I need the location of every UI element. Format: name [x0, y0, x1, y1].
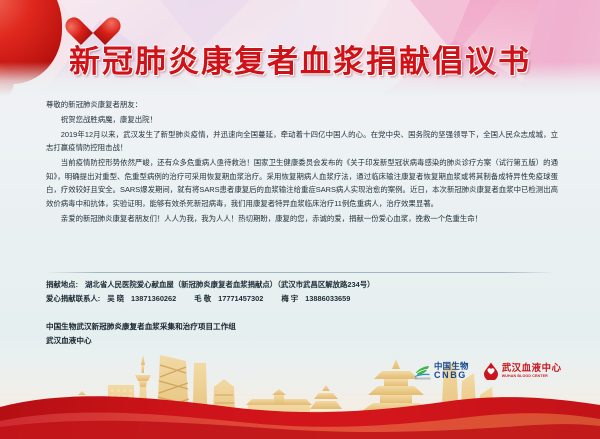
cnbg-logo-cn: 中国生物 [434, 362, 469, 370]
contact-phone-1: 13871360262 [131, 294, 176, 303]
contact-name-2: 毛 敬 [194, 294, 211, 303]
contact-name-1: 吴 晓 [107, 294, 124, 303]
donation-location-value: 湖北省人民医院爱心献血屋（新冠肺炎康复者血浆捐献点）（武汉市武昌区解放路234号… [85, 280, 374, 289]
poster-footer [0, 347, 600, 439]
cnbg-leaf-mark-icon [414, 363, 431, 380]
organization-line-2: 武汉血液中心 [46, 334, 466, 348]
contact-name-3: 梅 宇 [281, 294, 298, 303]
donation-contacts-row: 爱心捐献联系人:吴 晓13871360262毛 敬17771457302梅 宇1… [46, 292, 566, 306]
wuhan-blood-center-logo: 武汉血液中心 WUHAN BLOOD CENTER [483, 362, 562, 380]
paragraph-1: 祝贺您战胜病魔，康复出院！ [46, 113, 558, 126]
wuhan-blood-center-en: WUHAN BLOOD CENTER [502, 375, 562, 379]
section-divider [46, 272, 554, 273]
cnbg-logo-text: 中国生物 CNBG [434, 362, 469, 380]
red-heart-icon [76, 6, 110, 38]
wuhan-blood-center-logo-text: 武汉血液中心 WUHAN BLOOD CENTER [502, 364, 562, 379]
wuhan-blood-center-cn: 武汉血液中心 [502, 364, 562, 373]
logo-row: 中国生物 CNBG 武汉血液中心 WUHAN BLOOD CENTER [414, 362, 562, 380]
page-title: 新冠肺炎康复者血浆捐献倡议书 [0, 36, 600, 81]
salutation: 尊敬的新冠肺炎康复者朋友： [46, 98, 558, 111]
red-ribbon-wave [0, 381, 600, 439]
paragraph-3: 当前疫情防控形势依然严峻，还有众多危重病人亟待救治！国家卫生健康委员会发布的《关… [46, 156, 558, 210]
donation-location-row: 捐献地点:湖北省人民医院爱心献血屋（新冠肺炎康复者血浆捐献点）（武汉市武昌区解放… [46, 278, 566, 292]
organization-line-1: 中国生物武汉新冠肺炎康复者血浆采集和治疗项目工作组 [46, 320, 466, 334]
cnbg-logo: 中国生物 CNBG [414, 362, 469, 380]
paragraph-4: 亲爱的新冠肺炎康复者朋友们！人人为我，我为人人！热切期盼，康复的您，赤诚的爱，捐… [46, 212, 558, 225]
contact-phone-2: 17771457302 [218, 294, 263, 303]
blood-drop-heart-mark-icon [483, 362, 499, 380]
contact-phone-3: 13886033659 [305, 294, 350, 303]
donation-contacts-label: 爱心捐献联系人: [46, 294, 100, 303]
contact-block: 捐献地点:湖北省人民医院爱心献血屋（新冠肺炎康复者血浆捐献点）（武汉市武昌区解放… [46, 278, 566, 306]
letter-body: 尊敬的新冠肺炎康复者朋友： 祝贺您战胜病魔，康复出院！ 2019年12月以来，武… [46, 98, 558, 227]
paragraph-2: 2019年12月以来，武汉发生了新型肺炎疫情，并迅速向全国蔓延，牵动着十四亿中国… [46, 128, 558, 155]
donation-location-label: 捐献地点: [46, 280, 78, 289]
poster: 新冠肺炎康复者血浆捐献倡议书 尊敬的新冠肺炎康复者朋友： 祝贺您战胜病魔，康复出… [0, 0, 600, 439]
organization-block: 中国生物武汉新冠肺炎康复者血浆采集和治疗项目工作组 武汉血液中心 [46, 320, 466, 348]
cnbg-logo-en: CNBG [434, 371, 469, 380]
